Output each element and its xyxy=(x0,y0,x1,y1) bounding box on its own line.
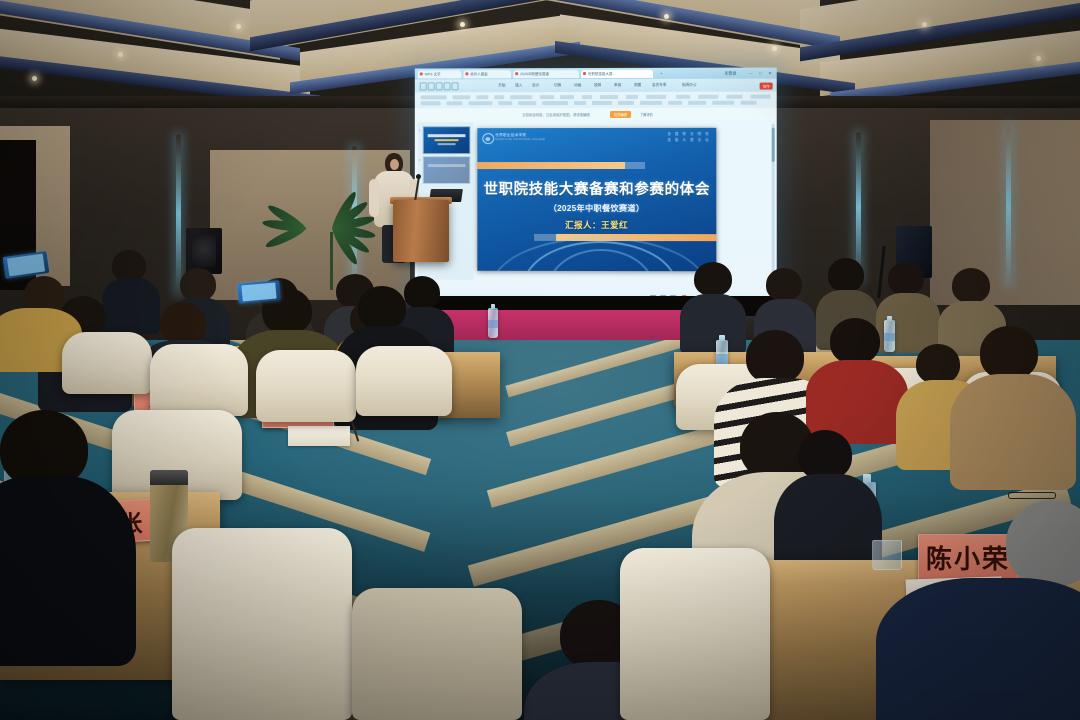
ribbon-tab-home[interactable]: 开始 xyxy=(498,83,505,88)
water-bottle xyxy=(488,308,498,338)
current-slide[interactable]: 世界职业技术学院 SHIZHIYUAN VOCATIONAL COLLEGE 全… xyxy=(477,128,716,271)
side-wall-panel-right xyxy=(930,120,1080,305)
thumbnail-number: 1 xyxy=(419,128,421,132)
wooden-podium xyxy=(393,200,449,262)
app-tab-label: WPS 文字 xyxy=(425,71,441,76)
app-tab-label: 2025中职餐饮赛道 xyxy=(520,71,549,76)
potted-palm xyxy=(296,180,376,290)
wall-light-strip xyxy=(856,132,861,282)
slide-accent-bar-top-light xyxy=(625,162,645,169)
vertical-scrollbar[interactable] xyxy=(772,124,775,275)
account-label[interactable]: 未登录 xyxy=(724,71,736,77)
banquet-chair xyxy=(62,332,152,394)
slide-accent-bar-top xyxy=(477,162,625,169)
redo-icon[interactable] xyxy=(436,82,443,90)
print-icon[interactable] xyxy=(444,82,451,90)
corner-line: 技 能 大 赛 论 坛 xyxy=(667,137,710,143)
ribbon-bar: 开始 插入 设计 切换 动画 放映 审阅 视图 会员专享 稻壳办公 协作 xyxy=(415,79,777,93)
recording-phone xyxy=(237,280,281,304)
app-tab-label: 世职院技能大赛… xyxy=(588,70,616,75)
ribbon-tab-review[interactable]: 审阅 xyxy=(614,83,621,88)
slide-arc-graphic xyxy=(477,235,716,271)
minimize-button[interactable]: — xyxy=(749,71,753,76)
ceiling-light xyxy=(922,22,927,27)
app-tab[interactable]: 2025中职餐饮赛道 xyxy=(513,70,579,78)
water-bottle xyxy=(884,320,895,352)
close-button[interactable]: ✕ xyxy=(768,71,771,76)
banquet-chair-foreground xyxy=(172,528,352,720)
conference-hall-photo: WPS 文字 收件人模板 2025中职餐饮赛道 世职院技能大赛… + — □ ✕… xyxy=(0,0,1080,720)
banquet-chair xyxy=(256,350,356,422)
protected-view-bar: 文档来自网络，已启用保护视图，请谨慎编辑 仍然编辑 了解详情 xyxy=(415,108,777,121)
pa-speaker-left xyxy=(186,228,222,274)
eyeglasses xyxy=(30,452,66,459)
app-tab-label: 收件人模板 xyxy=(470,71,487,76)
maximize-button[interactable]: □ xyxy=(759,71,761,76)
app-tab[interactable]: WPS 文字 xyxy=(418,70,462,78)
undo-icon[interactable] xyxy=(428,82,435,90)
banquet-chair xyxy=(150,344,248,416)
banquet-chair xyxy=(356,346,452,416)
ribbon-tab-view[interactable]: 视图 xyxy=(634,83,641,88)
slide-thumbnail[interactable] xyxy=(423,156,471,184)
college-logo: 世界职业技术学院 SHIZHIYUAN VOCATIONAL COLLEGE xyxy=(482,132,542,143)
ribbon-tab-office[interactable]: 稻壳办公 xyxy=(682,83,696,88)
ribbon-tab-member[interactable]: 会员专享 xyxy=(652,83,666,88)
presenter-arm-left xyxy=(369,179,379,217)
ceiling-light xyxy=(236,24,241,29)
ribbon-tab-slideshow[interactable]: 放映 xyxy=(594,83,601,88)
ribbon-tab-transitions[interactable]: 切换 xyxy=(554,83,561,88)
protected-view-text: 文档来自网络，已启用保护视图，请谨慎编辑 xyxy=(522,112,590,117)
format-toolbar xyxy=(415,92,777,109)
app-tab[interactable]: 收件人模板 xyxy=(463,70,511,78)
slide-subtitle: （2025年中职餐饮赛道） xyxy=(477,202,716,214)
slide-thumbnail[interactable] xyxy=(423,126,471,154)
slide-presenter: 汇报人：王爱红 xyxy=(477,219,716,231)
ceiling-light xyxy=(32,76,37,81)
app-tab-active[interactable]: 世职院技能大赛… xyxy=(581,69,653,77)
ceiling-light xyxy=(118,52,123,57)
collaborate-button[interactable]: 协作 xyxy=(760,82,773,89)
ribbon-tab-insert[interactable]: 插入 xyxy=(515,83,522,88)
learn-more-link[interactable]: 了解详情 xyxy=(640,111,653,116)
banquet-chair-foreground xyxy=(352,588,522,720)
ceiling-light xyxy=(772,46,777,51)
ribbon-tab-animations[interactable]: 动画 xyxy=(574,83,581,88)
wall-light-strip xyxy=(176,134,181,294)
banquet-chair-foreground xyxy=(620,548,770,720)
drinking-glass xyxy=(872,540,902,570)
ceiling-light xyxy=(1036,56,1041,61)
logo-ring-icon xyxy=(482,133,494,144)
new-tab-button[interactable]: + xyxy=(660,71,662,76)
logo-subname: SHIZHIYUAN VOCATIONAL COLLEGE xyxy=(495,138,545,141)
corner-line: 全 国 职 业 院 校 xyxy=(667,132,710,138)
name-card: 陈小荣 xyxy=(918,534,1018,580)
thumbnail-number: 2 xyxy=(419,158,421,162)
ceiling-light xyxy=(664,14,669,19)
wall-light-strip xyxy=(1006,126,1011,286)
slide-title: 世职院技能大赛备赛和参赛的体会 xyxy=(477,178,716,199)
slide-corner-text: 全 国 职 业 院 校 技 能 大 赛 论 坛 xyxy=(667,132,710,143)
save-icon[interactable] xyxy=(420,82,427,90)
ribbon-tab-design[interactable]: 设计 xyxy=(532,83,539,88)
notepad xyxy=(288,426,350,446)
enable-editing-button[interactable]: 仍然编辑 xyxy=(610,111,631,118)
presenter-face xyxy=(390,159,399,170)
eyeglasses xyxy=(1008,492,1056,499)
app-tab-bar: WPS 文字 收件人模板 2025中职餐饮赛道 世职院技能大赛… + — □ ✕… xyxy=(415,67,777,79)
ceiling-light xyxy=(460,22,465,27)
format-painter-icon[interactable] xyxy=(452,82,459,90)
